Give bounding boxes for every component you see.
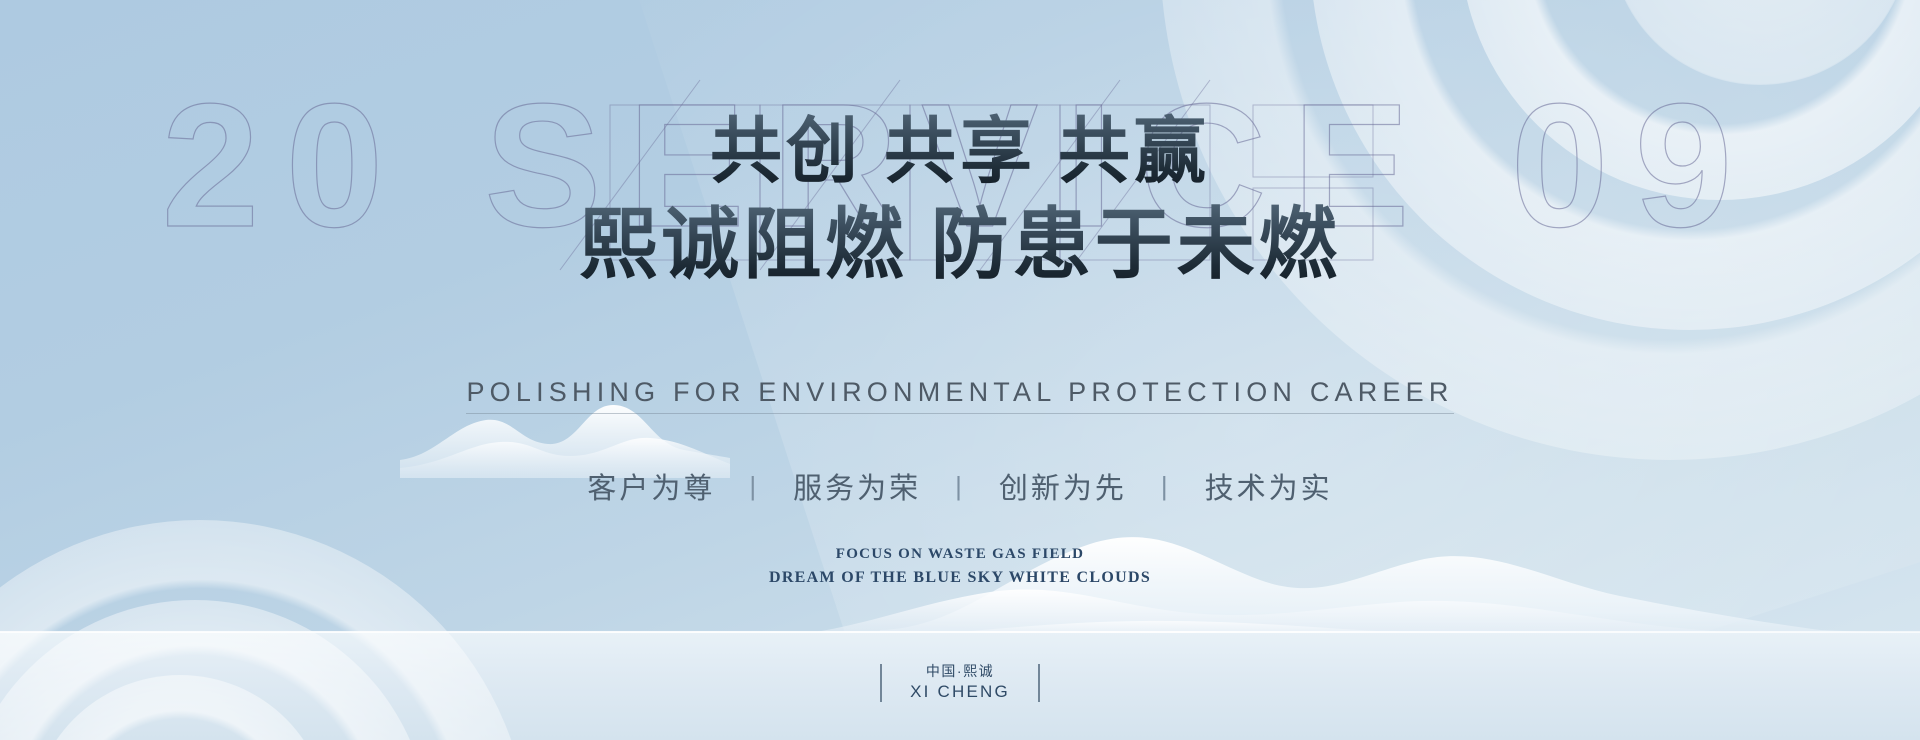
value-separator-1: | — [749, 471, 759, 502]
value-item-3: 创新为先 — [965, 465, 1161, 507]
marketing-banner: 20 SERVICE 09 共创 共享 共赢 熙诚阻燃 防患于未燃 — [0, 0, 1920, 740]
brand-divider-right — [1038, 664, 1040, 702]
value-item-4: 技术为实 — [1171, 465, 1367, 507]
value-separator-2: | — [955, 471, 965, 502]
tagline: POLISHING FOR ENVIRONMENTAL PROTECTION C… — [0, 377, 1920, 414]
sub-english-line-1: FOCUS ON WASTE GAS FIELD — [0, 544, 1920, 566]
tagline-text: POLISHING FOR ENVIRONMENTAL PROTECTION C… — [466, 377, 1453, 414]
brand-name-cn: 中国·熙诚 — [910, 662, 1010, 681]
brand-text: 中国·熙诚 XI CHENG — [910, 662, 1010, 704]
value-item-2: 服务为荣 — [759, 465, 955, 507]
sub-english-line-2: DREAM OF THE BLUE SKY WHITE CLOUDS — [0, 566, 1920, 589]
headline-line-2: 熙诚阻燃 防患于未燃 — [0, 182, 1920, 294]
value-item-1: 客户为尊 — [553, 465, 749, 507]
brand-name-en: XI CHENG — [910, 681, 1010, 704]
value-separator-3: | — [1161, 471, 1171, 502]
value-list: 客户为尊 | 服务为荣 | 创新为先 | 技术为实 — [0, 465, 1920, 507]
brand-lockup: 中国·熙诚 XI CHENG — [0, 662, 1920, 704]
sub-english-block: FOCUS ON WASTE GAS FIELD DREAM OF THE BL… — [0, 544, 1920, 589]
brand-divider-left — [880, 664, 882, 702]
headline-line-2-text: 熙诚阻燃 防患于未燃 — [579, 182, 1341, 294]
horizon-line — [0, 631, 1920, 633]
